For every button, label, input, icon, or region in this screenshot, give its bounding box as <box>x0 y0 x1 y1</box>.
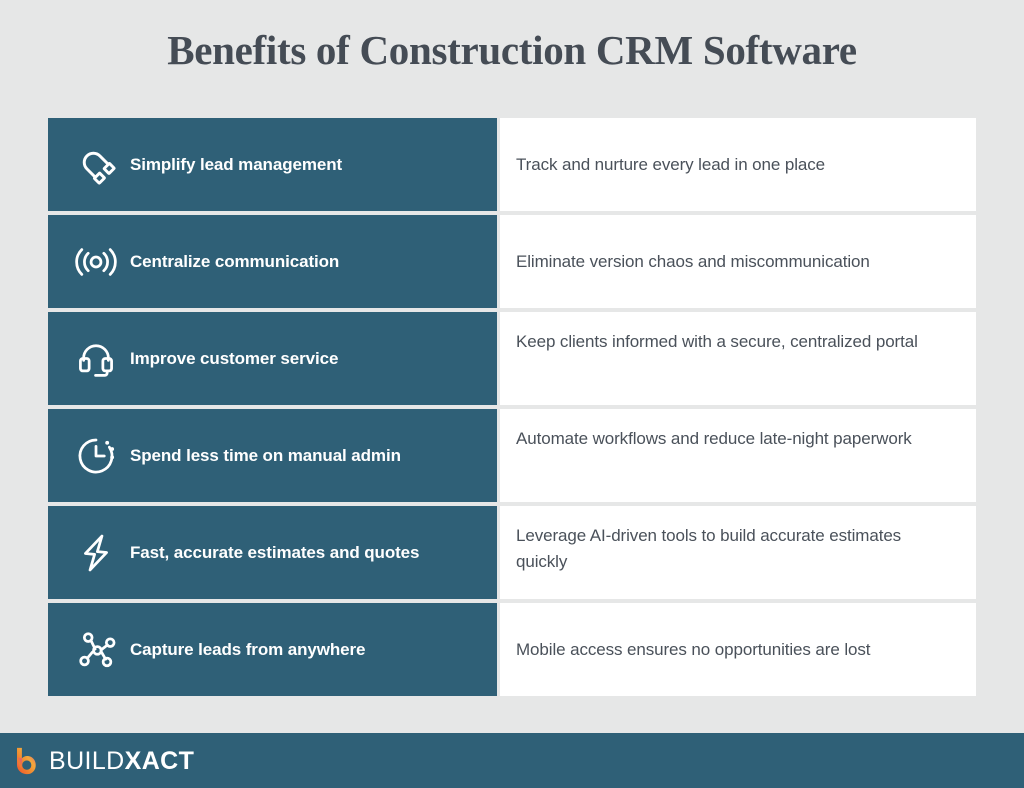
benefit-description: Keep clients informed with a secure, cen… <box>516 329 918 355</box>
page-title: Benefits of Construction CRM Software <box>0 24 1024 76</box>
logo-build-text: BUILD <box>49 747 125 775</box>
benefit-label: Fast, accurate estimates and quotes <box>130 542 419 564</box>
clock-dashed-icon <box>70 430 122 482</box>
benefit-description: Track and nurture every lead in one plac… <box>516 152 825 178</box>
benefit-description-cell: Keep clients informed with a secure, cen… <box>500 312 976 405</box>
benefits-table: Simplify lead management Track and nurtu… <box>48 118 976 696</box>
benefit-label-cell: Spend less time on manual admin <box>48 409 497 502</box>
benefit-description: Eliminate version chaos and miscommunica… <box>516 249 870 275</box>
benefit-label: Spend less time on manual admin <box>130 445 401 467</box>
table-row: Improve customer service Keep clients in… <box>48 312 976 405</box>
magnet-icon <box>70 139 122 191</box>
benefit-label-cell: Improve customer service <box>48 312 497 405</box>
lightning-bolt-icon <box>70 527 122 579</box>
benefit-label-cell: Centralize communication <box>48 215 497 308</box>
benefit-label-cell: Capture leads from anywhere <box>48 603 497 696</box>
benefit-label: Improve customer service <box>130 348 338 370</box>
benefit-label: Capture leads from anywhere <box>130 639 365 661</box>
table-row: Spend less time on manual admin Automate… <box>48 409 976 502</box>
table-row: Capture leads from anywhere Mobile acces… <box>48 603 976 696</box>
table-row: Simplify lead management Track and nurtu… <box>48 118 976 211</box>
network-nodes-icon <box>70 624 122 676</box>
benefit-description-cell: Automate workflows and reduce late-night… <box>500 409 976 502</box>
benefit-label: Simplify lead management <box>130 154 342 176</box>
benefit-description: Automate workflows and reduce late-night… <box>516 426 912 452</box>
benefit-description-cell: Eliminate version chaos and miscommunica… <box>500 215 976 308</box>
benefit-description-cell: Mobile access ensures no opportunities a… <box>500 603 976 696</box>
infographic-root: Benefits of Construction CRM Software Si… <box>0 0 1024 788</box>
benefit-description-cell: Track and nurture every lead in one plac… <box>500 118 976 211</box>
benefit-label: Centralize communication <box>130 251 339 273</box>
benefit-label-cell: Simplify lead management <box>48 118 497 211</box>
headset-icon <box>70 333 122 385</box>
broadcast-signal-icon <box>70 236 122 288</box>
benefit-label-cell: Fast, accurate estimates and quotes <box>48 506 497 599</box>
buildxact-wordmark: BUILDXACT <box>49 747 194 775</box>
table-row: Fast, accurate estimates and quotes Leve… <box>48 506 976 599</box>
title-container: Benefits of Construction CRM Software <box>0 24 1024 76</box>
buildxact-logo: BUILDXACT <box>14 746 194 776</box>
buildxact-b-mark-icon <box>14 746 49 776</box>
footer-bar: BUILDXACT <box>0 733 1024 788</box>
benefit-description: Mobile access ensures no opportunities a… <box>516 637 870 663</box>
logo-xact-text: XACT <box>125 747 195 775</box>
benefit-description-cell: Leverage AI-driven tools to build accura… <box>500 506 976 599</box>
table-row: Centralize communication Eliminate versi… <box>48 215 976 308</box>
benefit-description: Leverage AI-driven tools to build accura… <box>516 523 956 575</box>
